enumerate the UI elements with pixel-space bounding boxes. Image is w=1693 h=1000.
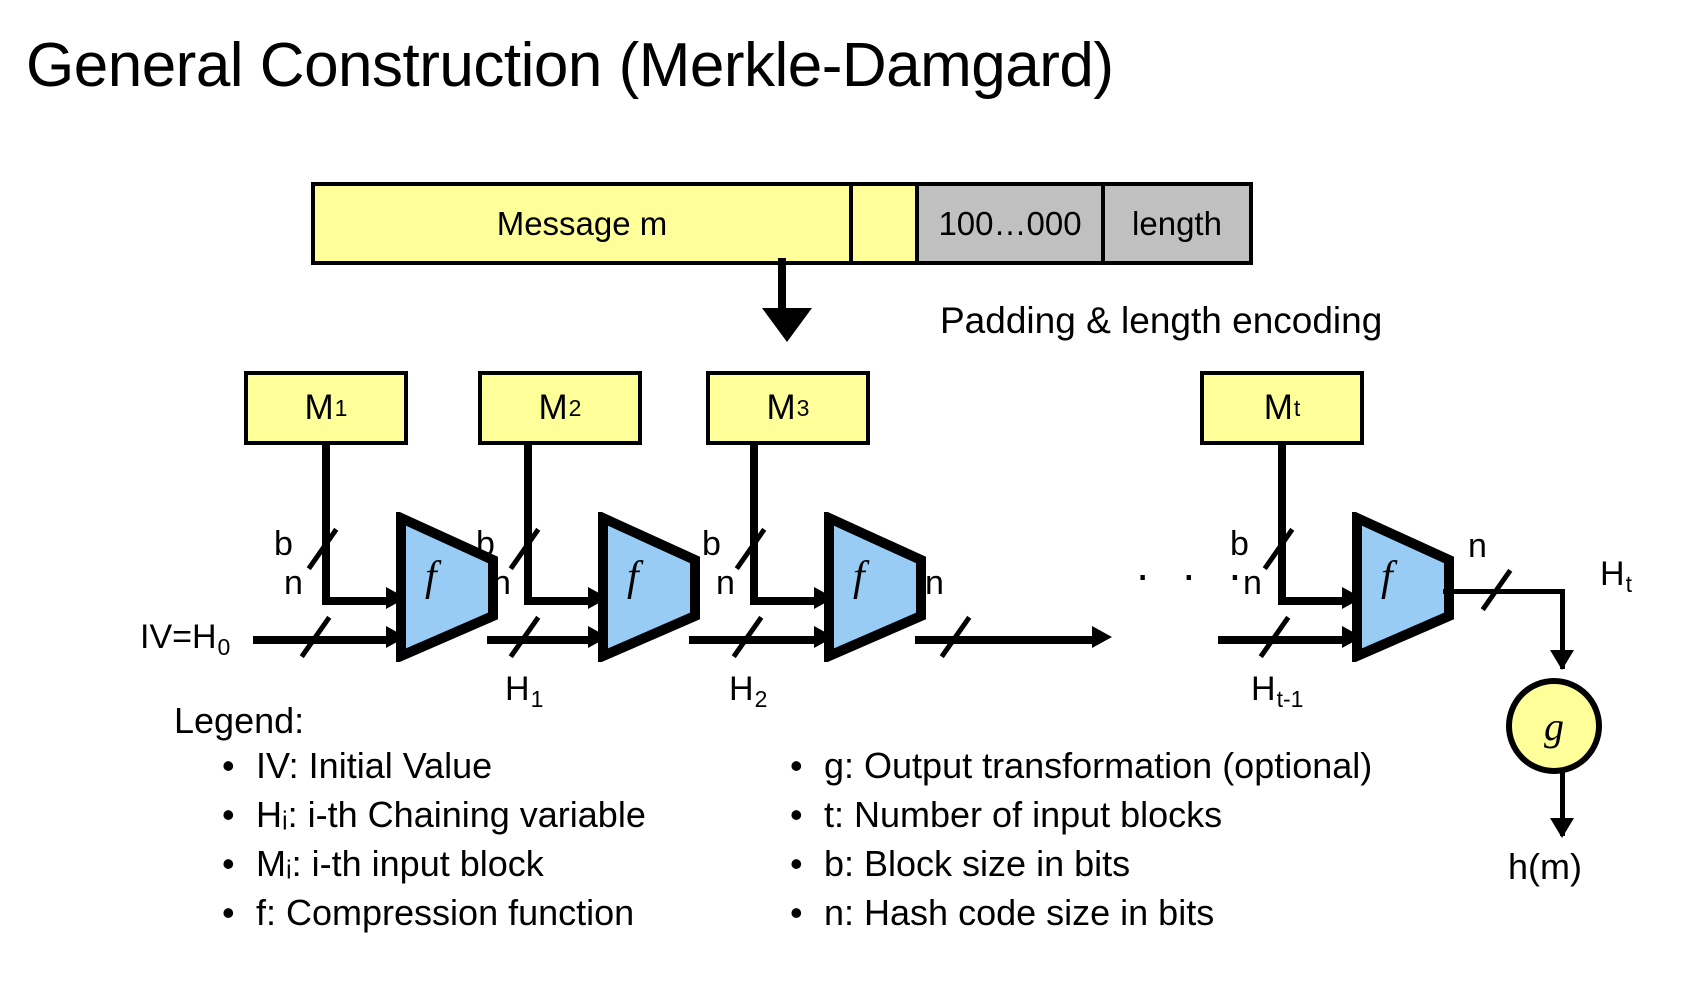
legend-item-text: IV: Initial Value [256, 745, 492, 786]
legend-item-text: Mᵢ: i-th input block [256, 843, 544, 884]
legend-bullet-icon: • [790, 843, 824, 885]
ht-bitwidth-label: n [1468, 529, 1487, 563]
page-title: General Construction (Merkle-Damgard) [26, 30, 1114, 102]
message-block-mt: Mt [1200, 371, 1364, 445]
legend-heading: Legend: [174, 700, 304, 742]
h1-bitwidth-label: n [492, 566, 511, 600]
legend-bullet-icon: • [222, 892, 256, 934]
compression-function-ft [1351, 512, 1471, 662]
output-transformation-g: g [1506, 678, 1602, 774]
message-block-label: M [1264, 388, 1293, 428]
m2-wire-vertical [524, 445, 532, 605]
h2-bitwidth-label: n [716, 566, 735, 600]
mt-wire-horizontal [1278, 597, 1348, 605]
h3-wire-arrowhead [1092, 626, 1112, 648]
length-cell: length [1101, 186, 1249, 261]
legend-bullet-icon: • [790, 745, 824, 787]
m3-bitwidth-label: b [702, 527, 721, 561]
padding-bits-cell: 100…000 [915, 186, 1101, 261]
m3-wire-horizontal [750, 597, 820, 605]
m1-wire-vertical [322, 445, 330, 605]
message-block-subscript: t [1293, 395, 1300, 422]
iv-label: IV=H0 [140, 618, 230, 661]
message-block-label: M [767, 388, 796, 428]
ht-label-text: H [1600, 555, 1625, 593]
legend-item-text: b: Block size in bits [824, 843, 1130, 884]
h1-label: H1 [505, 670, 543, 713]
legend-item: •Mᵢ: i-th input block [222, 843, 646, 885]
legend-item-text: g: Output transformation (optional) [824, 745, 1372, 786]
message-remainder-cell [849, 186, 915, 261]
legend-left-column: •IV: Initial Value •Hᵢ: i-th Chaining va… [222, 745, 646, 934]
m1-bitwidth-label: b [274, 527, 293, 561]
h3-bitwidth-label: n [925, 566, 944, 600]
message-block-m1: M1 [244, 371, 408, 445]
legend-bullet-icon: • [790, 892, 824, 934]
output-wire-arrowhead [1550, 818, 1574, 838]
legend-bullet-icon: • [222, 745, 256, 787]
output-transformation-g-label: g [1544, 703, 1564, 750]
iv-label-text: IV=H [140, 618, 217, 656]
ht-wire-horizontal [1443, 589, 1565, 594]
iv-label-subscript: 0 [217, 634, 231, 660]
h1-wire [487, 636, 595, 644]
message-block-m2: M2 [478, 371, 642, 445]
compression-function-f3-label: f [853, 553, 865, 601]
ht-label: Ht [1600, 555, 1632, 598]
legend-item: •g: Output transformation (optional) [790, 745, 1372, 787]
legend-right-column: •g: Output transformation (optional) •t:… [790, 745, 1372, 934]
legend-item: •t: Number of input blocks [790, 794, 1372, 836]
message-block-subscript: 1 [334, 395, 348, 422]
message-block-subscript: 3 [796, 395, 810, 422]
legend-item: •Hᵢ: i-th Chaining variable [222, 794, 646, 836]
legend-item-text: t: Number of input blocks [824, 794, 1222, 835]
message-block-label: M [539, 388, 568, 428]
message-to-block-arrowhead [762, 308, 812, 342]
ht-1-label-subscript: t-1 [1276, 686, 1304, 712]
m2-wire-horizontal [524, 597, 594, 605]
padding-note: Padding & length encoding [940, 300, 1382, 342]
h1-label-text: H [505, 670, 530, 708]
h2-wire [689, 636, 821, 644]
h2-label-subscript: 2 [754, 686, 768, 712]
final-output-label: h(m) [1508, 846, 1582, 888]
legend-item: •IV: Initial Value [222, 745, 646, 787]
message-block-label: M [305, 388, 334, 428]
legend-bullet-icon: • [222, 843, 256, 885]
ht-1-label-text: H [1251, 670, 1276, 708]
compression-function-f2-label: f [627, 553, 639, 601]
ht-1-label: Ht-1 [1251, 670, 1303, 713]
compression-function-f1-label: f [425, 553, 437, 601]
iv-wire [253, 636, 393, 644]
ht-label-subscript: t [1625, 571, 1632, 597]
message-block-subscript: 2 [568, 395, 582, 422]
legend-item-text: n: Hash code size in bits [824, 892, 1214, 933]
legend-item: •b: Block size in bits [790, 843, 1372, 885]
ht-1-bitwidth-label: n [1243, 566, 1262, 600]
legend-item-text: Hᵢ: i-th Chaining variable [256, 794, 646, 835]
h3-wire [915, 636, 1100, 644]
legend-item: •f: Compression function [222, 892, 646, 934]
m2-bitwidth-label: b [476, 527, 495, 561]
legend-item-text: f: Compression function [256, 892, 634, 933]
m3-wire-vertical [750, 445, 758, 605]
h2-label: H2 [729, 670, 767, 713]
h1-label-subscript: 1 [530, 686, 544, 712]
legend-bullet-icon: • [790, 794, 824, 836]
mt-bitwidth-label: b [1230, 527, 1249, 561]
ht-1-wire [1218, 636, 1350, 644]
mt-wire-vertical [1278, 445, 1286, 605]
iv-bitwidth-label: n [284, 566, 303, 600]
compression-function-ft-label: f [1381, 553, 1393, 601]
m1-wire-horizontal [322, 597, 392, 605]
message-cell: Message m [315, 186, 849, 261]
h2-label-text: H [729, 670, 754, 708]
message-bar: Message m 100…000 length [311, 182, 1253, 265]
ht-wire-arrowhead [1550, 650, 1574, 670]
message-block-m3: M3 [706, 371, 870, 445]
slide-canvas: General Construction (Merkle-Damgard) Me… [0, 0, 1693, 1000]
legend-bullet-icon: • [222, 794, 256, 836]
legend-item: •n: Hash code size in bits [790, 892, 1372, 934]
